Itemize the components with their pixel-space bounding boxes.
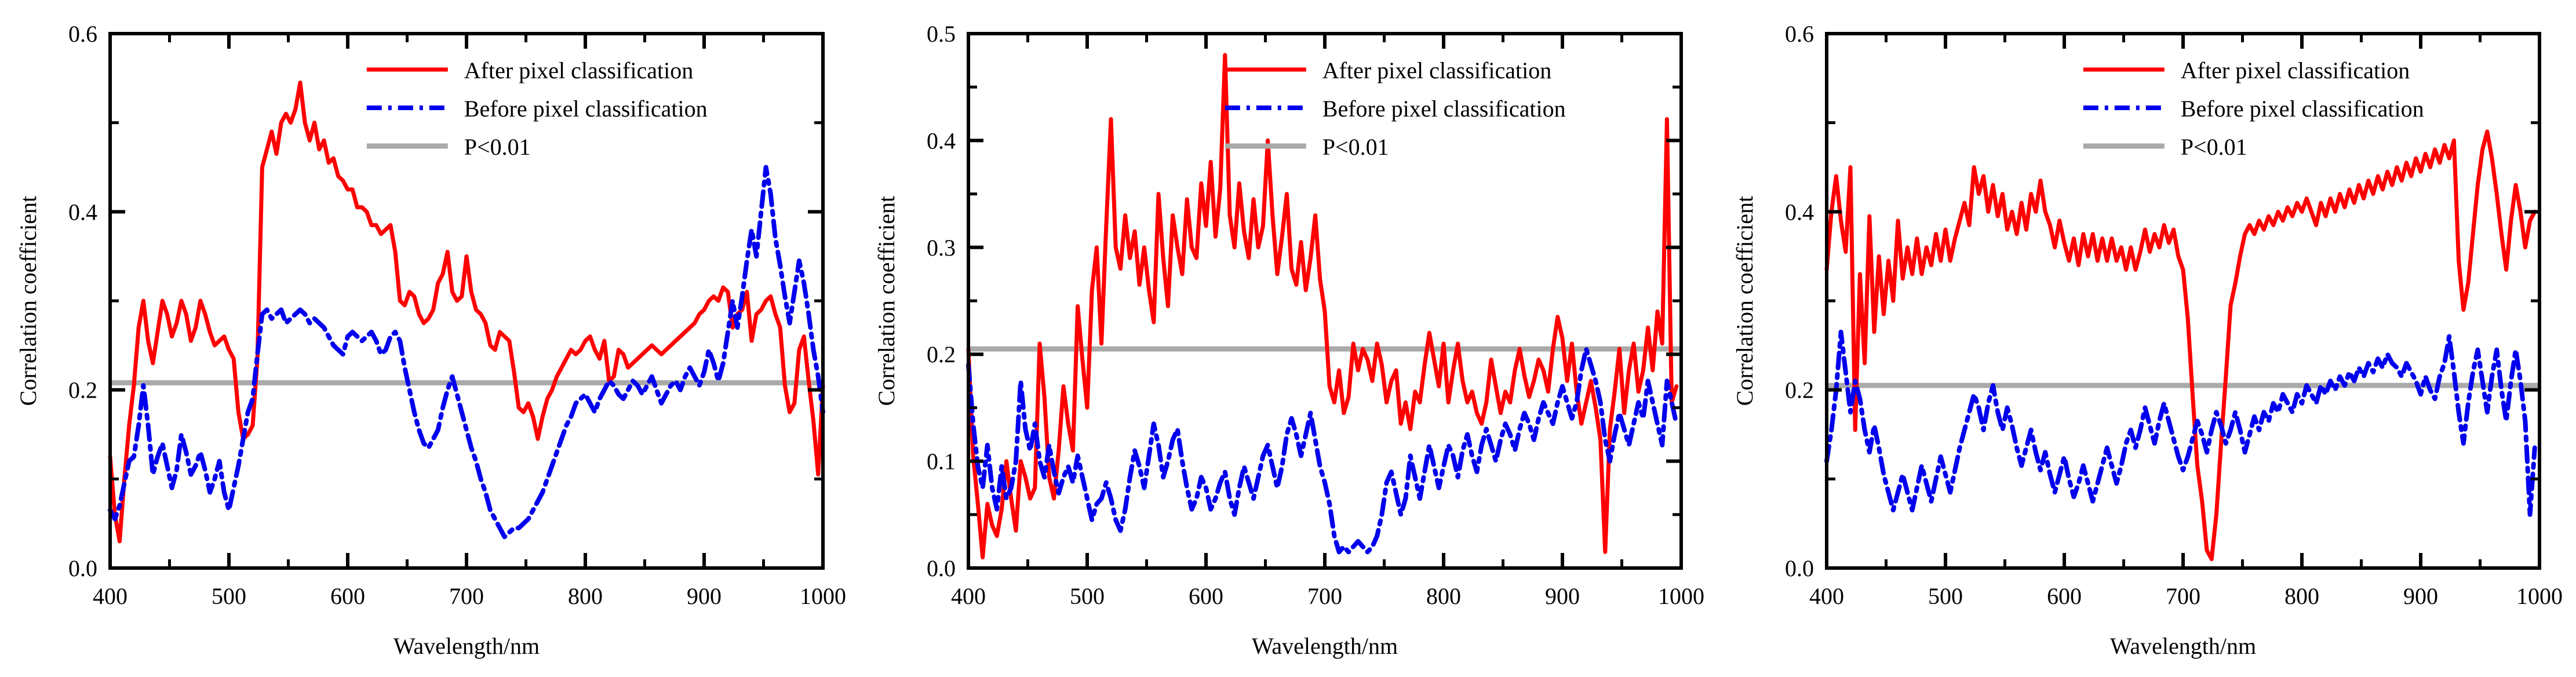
y-tick-label: 0.0 bbox=[927, 555, 956, 581]
chart-svg: 40050060070080090010000.00.10.20.30.40.5… bbox=[858, 0, 1717, 677]
x-tick-label: 700 bbox=[2166, 583, 2200, 609]
x-tick-label: 500 bbox=[1070, 583, 1105, 609]
spectral-correlation-figure: 40050060070080090010000.00.20.40.6After … bbox=[0, 0, 2576, 677]
legend-item-before-label: Before pixel classification bbox=[464, 96, 708, 122]
y-tick-label: 0.0 bbox=[68, 555, 97, 581]
y-axis-label: Correlation coefficient bbox=[15, 196, 41, 406]
y-tick-label: 0.5 bbox=[927, 21, 956, 47]
y-axis-label: Correlation coefficient bbox=[873, 196, 899, 406]
y-tick-label: 0.1 bbox=[927, 449, 956, 475]
x-tick-label: 400 bbox=[1809, 583, 1844, 609]
x-tick-label: 900 bbox=[687, 583, 722, 609]
y-axis-label: Correlation coefficient bbox=[1732, 196, 1758, 406]
y-tick-label: 0.2 bbox=[68, 377, 97, 403]
legend-item-after-label: After pixel classification bbox=[1322, 57, 1551, 83]
x-tick-label: 400 bbox=[951, 583, 986, 609]
legend-item-threshold-label: P<0.01 bbox=[464, 134, 531, 160]
chart-panel-1: 40050060070080090010000.00.20.40.6After … bbox=[0, 0, 858, 677]
y-tick-label: 0.0 bbox=[1785, 555, 1814, 581]
chart-svg: 40050060070080090010000.00.20.40.6After … bbox=[1717, 0, 2575, 677]
legend-item-before-label: Before pixel classification bbox=[1322, 96, 1566, 122]
x-tick-label: 600 bbox=[1189, 583, 1223, 609]
x-tick-label: 1000 bbox=[800, 583, 846, 609]
x-axis-label: Wavelength/nm bbox=[2110, 633, 2256, 659]
y-tick-label: 0.6 bbox=[1785, 21, 1814, 47]
y-tick-label: 0.2 bbox=[927, 341, 956, 367]
y-tick-label: 0.6 bbox=[68, 21, 97, 47]
x-tick-label: 800 bbox=[1426, 583, 1461, 609]
y-tick-label: 0.3 bbox=[927, 235, 956, 261]
x-tick-label: 900 bbox=[1545, 583, 1580, 609]
x-tick-label: 1000 bbox=[1658, 583, 1704, 609]
x-tick-label: 400 bbox=[93, 583, 127, 609]
x-axis-label: Wavelength/nm bbox=[393, 633, 540, 659]
x-tick-label: 900 bbox=[2403, 583, 2438, 609]
x-tick-label: 1000 bbox=[2516, 583, 2563, 609]
y-tick-label: 0.4 bbox=[1785, 199, 1814, 225]
chart-svg: 40050060070080090010000.00.20.40.6After … bbox=[0, 0, 858, 677]
legend-item-after-label: After pixel classification bbox=[464, 57, 693, 83]
chart-panel-2: 40050060070080090010000.00.10.20.30.40.5… bbox=[858, 0, 1717, 677]
x-tick-label: 500 bbox=[212, 583, 246, 609]
legend-item-after-label: After pixel classification bbox=[2181, 57, 2410, 83]
x-tick-label: 800 bbox=[2284, 583, 2319, 609]
chart-panel-3: 40050060070080090010000.00.20.40.6After … bbox=[1717, 0, 2575, 677]
x-tick-label: 600 bbox=[330, 583, 365, 609]
x-tick-label: 600 bbox=[2047, 583, 2082, 609]
legend-item-threshold-label: P<0.01 bbox=[2181, 134, 2247, 160]
y-tick-label: 0.4 bbox=[68, 199, 97, 225]
legend-item-before-label: Before pixel classification bbox=[2181, 96, 2424, 122]
x-tick-label: 700 bbox=[449, 583, 484, 609]
x-axis-label: Wavelength/nm bbox=[1252, 633, 1398, 659]
legend-item-threshold-label: P<0.01 bbox=[1322, 134, 1389, 160]
x-tick-label: 700 bbox=[1307, 583, 1342, 609]
x-tick-label: 500 bbox=[1928, 583, 1963, 609]
y-tick-label: 0.4 bbox=[927, 128, 956, 154]
x-tick-label: 800 bbox=[568, 583, 603, 609]
y-tick-label: 0.2 bbox=[1785, 377, 1814, 403]
